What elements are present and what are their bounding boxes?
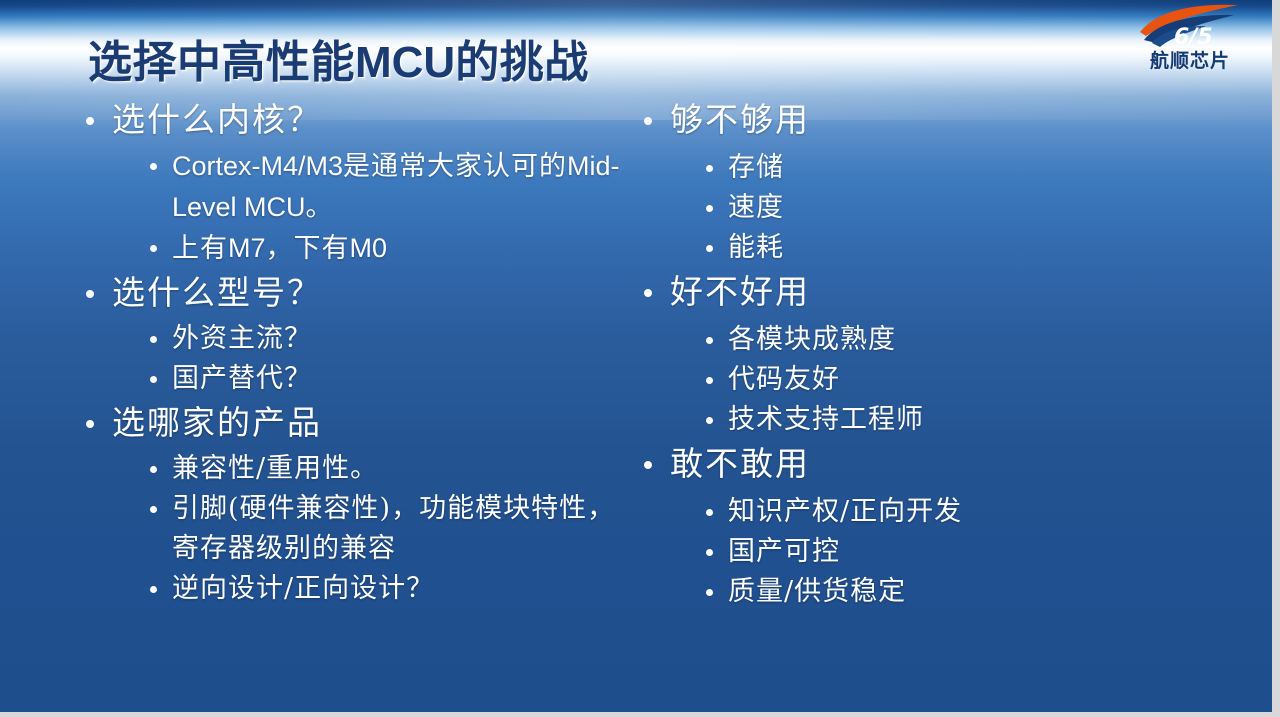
bullet-item: 逆向设计/正向设计？ — [146, 569, 642, 609]
page-title: 选择中高性能MCU的挑战 — [88, 26, 589, 90]
bullet-item: 外资主流？ — [146, 319, 642, 359]
bullet-item: 引脚(硬件兼容性)，功能模块特性，寄存器级别的兼容 — [146, 489, 642, 569]
bullet-heading: 够不够用 — [640, 96, 1200, 144]
bullet-heading: 敢不敢用 — [640, 440, 1200, 488]
content-column-left: 选什么内核？ Cortex-M4/M3是通常大家认可的Mid-Level MCU… — [82, 96, 642, 609]
bullet-item: 知识产权/正向开发 — [702, 492, 1200, 532]
bullet-item: 技术支持工程师 — [702, 400, 1200, 440]
content-column-right: 够不够用 存储 速度 能耗 好不好用 各模块成熟度 代码友好 技术支持工程师 敢… — [640, 96, 1200, 612]
bullet-heading: 选什么型号？ — [82, 269, 642, 317]
latin-run: MCU — [355, 38, 455, 87]
latin-run: M7 — [228, 233, 266, 263]
bullet-item: Cortex-M4/M3是通常大家认可的Mid-Level MCU。 — [146, 146, 642, 228]
bullet-list-level2: 外资主流？ 国产替代？ — [146, 319, 642, 399]
bullet-item: 国产替代？ — [146, 359, 642, 399]
bullet-list-level2: 知识产权/正向开发 国产可控 质量/供货稳定 — [702, 492, 1200, 612]
bullet-heading: 选什么内核？ — [82, 96, 642, 144]
bullet-item: 国产可控 — [702, 532, 1200, 572]
bullet-item: 速度 — [702, 188, 1200, 228]
svg-text:6/5: 6/5 — [1174, 25, 1213, 50]
logo-text: 航顺芯片 — [1130, 50, 1250, 72]
bullet-heading: 选哪家的产品 — [82, 399, 642, 447]
bullet-item: 代码友好 — [702, 360, 1200, 400]
bullet-item: 质量/供货稳定 — [702, 572, 1200, 612]
bullet-list-level1: 够不够用 存储 速度 能耗 好不好用 各模块成熟度 代码友好 技术支持工程师 敢… — [640, 96, 1200, 612]
bullet-list-level1: 选什么内核？ Cortex-M4/M3是通常大家认可的Mid-Level MCU… — [82, 96, 642, 609]
bullet-list-level2: 兼容性/重用性。 引脚(硬件兼容性)，功能模块特性，寄存器级别的兼容 逆向设计/… — [146, 449, 642, 609]
slide-canvas: 6/5 航顺芯片 选择中高性能MCU的挑战 选什么内核？ Cortex-M4/M… — [0, 0, 1272, 712]
bullet-list-level2: Cortex-M4/M3是通常大家认可的Mid-Level MCU。 上有M7，… — [146, 146, 642, 269]
company-logo: 6/5 航顺芯片 — [1130, 2, 1250, 84]
latin-run: M0 — [350, 233, 388, 263]
bullet-list-level2: 各模块成熟度 代码友好 技术支持工程师 — [702, 320, 1200, 440]
bullet-list-level2: 存储 速度 能耗 — [702, 148, 1200, 268]
bullet-item: 上有M7，下有M0 — [146, 228, 642, 269]
bullet-item: 各模块成熟度 — [702, 320, 1200, 360]
latin-run: Cortex-M4/M3 — [172, 151, 343, 181]
bullet-heading: 好不好用 — [640, 268, 1200, 316]
logo-mark-icon: 6/5 — [1134, 2, 1246, 52]
bullet-item: 能耗 — [702, 228, 1200, 268]
bullet-item: 兼容性/重用性。 — [146, 449, 642, 489]
bullet-item: 存储 — [702, 148, 1200, 188]
